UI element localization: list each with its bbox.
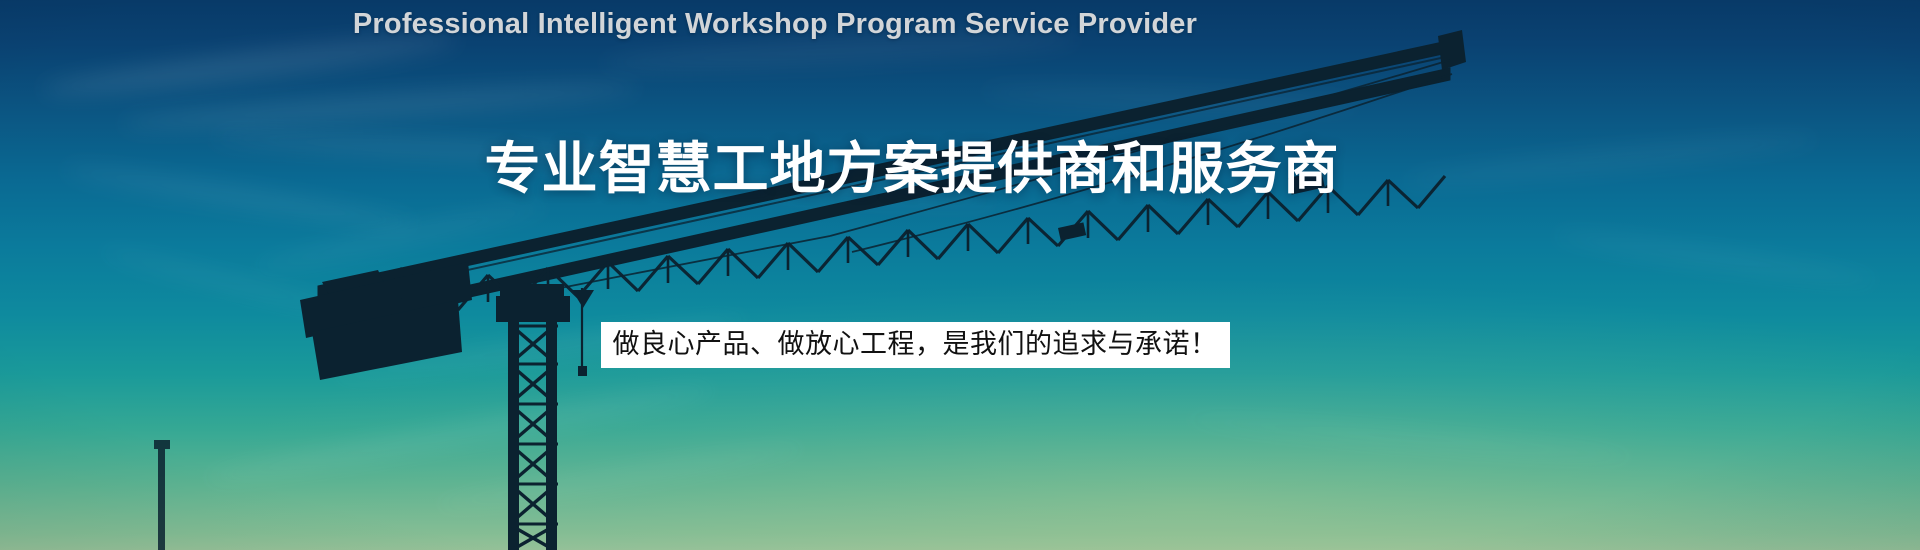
banner-content: Professional Intelligent Workshop Progra… bbox=[0, 0, 1920, 550]
banner-tagline: 做良心产品、做放心工程，是我们的追求与承诺！ bbox=[601, 322, 1230, 368]
banner-tagline-wrapper: 做良心产品、做放心工程，是我们的追求与承诺！ bbox=[0, 322, 1920, 368]
banner-eyebrow-english: Professional Intelligent Workshop Progra… bbox=[0, 8, 1920, 41]
page-title: 专业智慧工地方案提供商和服务商 bbox=[0, 124, 1920, 205]
hero-banner: Professional Intelligent Workshop Progra… bbox=[0, 0, 1920, 550]
